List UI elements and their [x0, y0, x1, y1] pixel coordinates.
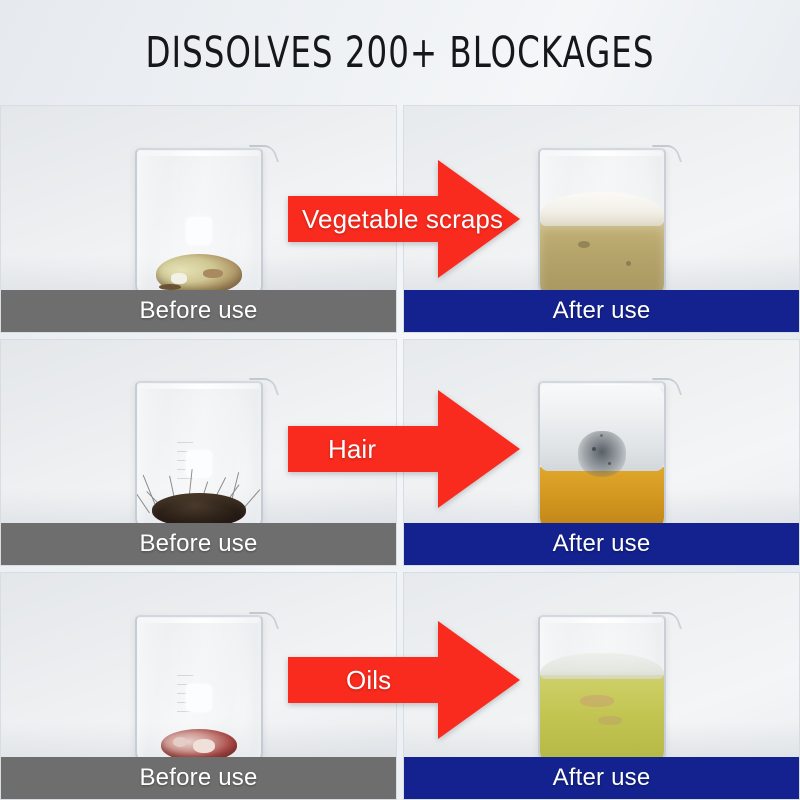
page-title: DISSOLVES 200+ BLOCKAGES [145, 28, 654, 78]
panel-row3-after: After use [403, 572, 800, 800]
beaker-glass [538, 615, 666, 765]
foam-layer [540, 192, 664, 226]
emulsion-speck [580, 695, 614, 707]
panel-row1-before: Before use [0, 105, 397, 333]
beaker-sticker [186, 217, 212, 245]
beaker-rim [139, 618, 259, 623]
beaker-glass [538, 381, 666, 531]
title-bar: DISSOLVES 200+ BLOCKAGES [0, 0, 800, 105]
panel-row2-before: Before use [0, 339, 397, 567]
beaker-rim [139, 384, 259, 389]
beaker-glass [135, 615, 263, 765]
beaker-rim [139, 151, 259, 156]
fat-piece [193, 739, 215, 753]
beaker-row2-after [538, 381, 666, 531]
beaker-sticker [186, 684, 212, 712]
beaker-row1-before [135, 148, 263, 298]
beaker-row3-after [538, 615, 666, 765]
scrap-speck [171, 273, 187, 284]
comparison-grid: Before use After use [0, 105, 800, 800]
dissolved-liquid [540, 222, 664, 296]
dissolved-speck [600, 434, 603, 437]
beaker-row3-before [135, 615, 263, 765]
caption-after: After use [404, 290, 799, 332]
beaker-row2-before [135, 381, 263, 531]
caption-after: After use [404, 523, 799, 565]
sediment-speck [578, 241, 590, 248]
caption-before: Before use [1, 290, 396, 332]
sediment-speck [626, 261, 631, 266]
beaker-glass [135, 381, 263, 531]
hair-clump [152, 493, 246, 527]
beaker-glass [538, 148, 666, 298]
foam-layer [540, 653, 664, 679]
scrap-speck [203, 269, 223, 278]
caption-after: After use [404, 757, 799, 799]
caption-before: Before use [1, 757, 396, 799]
panel-row2-after: After use [403, 339, 800, 567]
caption-before: Before use [1, 523, 396, 565]
panel-row3-before: Before use [0, 572, 397, 800]
beaker-rim [542, 618, 662, 623]
dissolved-speck [608, 462, 611, 465]
dissolved-specks [578, 431, 626, 477]
beaker-row1-after [538, 148, 666, 298]
fat-piece [173, 737, 187, 747]
panel-row1-after: After use [403, 105, 800, 333]
dissolved-speck [592, 447, 596, 451]
beaker-rim [542, 151, 662, 156]
product-comparison-poster: DISSOLVES 200+ BLOCKAGES Before use [0, 0, 800, 800]
beaker-glass [135, 148, 263, 298]
emulsion-speck [598, 716, 622, 725]
